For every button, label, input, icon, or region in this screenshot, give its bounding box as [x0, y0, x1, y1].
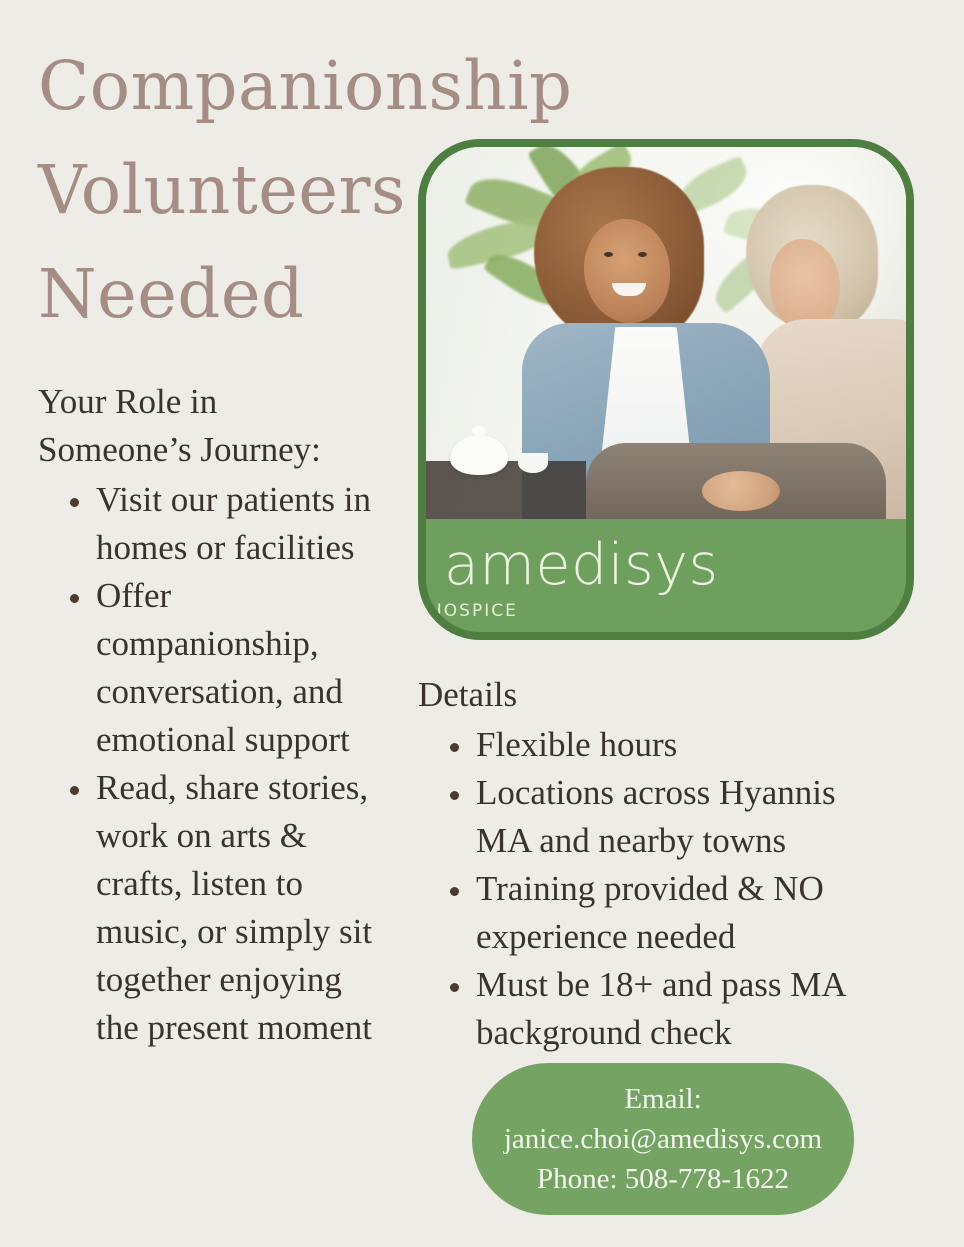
- list-item: Read, share stories, work on arts & craf…: [38, 764, 390, 1052]
- held-hands: [702, 471, 780, 511]
- page-title-line-1: Companionship: [38, 34, 458, 138]
- details-bullet-list: Flexible hours Locations across Hyannis …: [418, 721, 896, 1057]
- role-section-heading: Your Role in Someone’s Journey:: [38, 378, 390, 474]
- role-section: Your Role in Someone’s Journey: Visit ou…: [38, 378, 390, 1052]
- phone-number[interactable]: Phone: 508-778-1622: [472, 1159, 854, 1199]
- caregiver-eye: [604, 252, 613, 257]
- list-item: Visit our patients in homes or facilitie…: [38, 476, 390, 572]
- caregiver-eye: [638, 252, 647, 257]
- details-section-heading: Details: [418, 671, 896, 719]
- page-title-line-2: Volunteers: [38, 138, 458, 242]
- role-bullet-list: Visit our patients in homes or facilitie…: [38, 476, 390, 1052]
- list-item: Must be 18+ and pass MA background check: [418, 961, 896, 1057]
- contact-badge: Email: janice.choi@amedisys.com Phone: 5…: [472, 1063, 854, 1215]
- caregiver-photo: [426, 147, 906, 519]
- email-label: Email:: [472, 1079, 854, 1119]
- side-table: [426, 461, 586, 519]
- caregiver-face: [584, 219, 670, 323]
- media-card: amedisys HOSPICE: [418, 139, 914, 640]
- teapot-icon: [450, 435, 508, 475]
- flyer-canvas: Companionship Volunteers Needed Your Rol…: [0, 0, 964, 1247]
- elderly-woman-face: [770, 239, 840, 331]
- amedisys-logo-panel: amedisys HOSPICE: [426, 519, 906, 636]
- page-title-line-3: Needed: [38, 242, 458, 346]
- list-item: Locations across Hyannis MA and nearby t…: [418, 769, 896, 865]
- list-item: Training provided & NO experience needed: [418, 865, 896, 961]
- amedisys-wordmark: amedisys: [444, 537, 719, 594]
- details-section: Details Flexible hours Locations across …: [418, 671, 896, 1057]
- role-section-heading-line-1: Your Role in: [38, 382, 217, 421]
- role-section-heading-line-2: Someone’s Journey:: [38, 430, 321, 469]
- list-item: Offer companionship, conversation, and e…: [38, 572, 390, 764]
- amedisys-hospice-label: HOSPICE: [438, 603, 516, 620]
- email-address[interactable]: janice.choi@amedisys.com: [472, 1119, 854, 1159]
- teacup-icon: [518, 453, 548, 473]
- list-item: Flexible hours: [418, 721, 896, 769]
- page-title: Companionship Volunteers Needed: [38, 34, 458, 346]
